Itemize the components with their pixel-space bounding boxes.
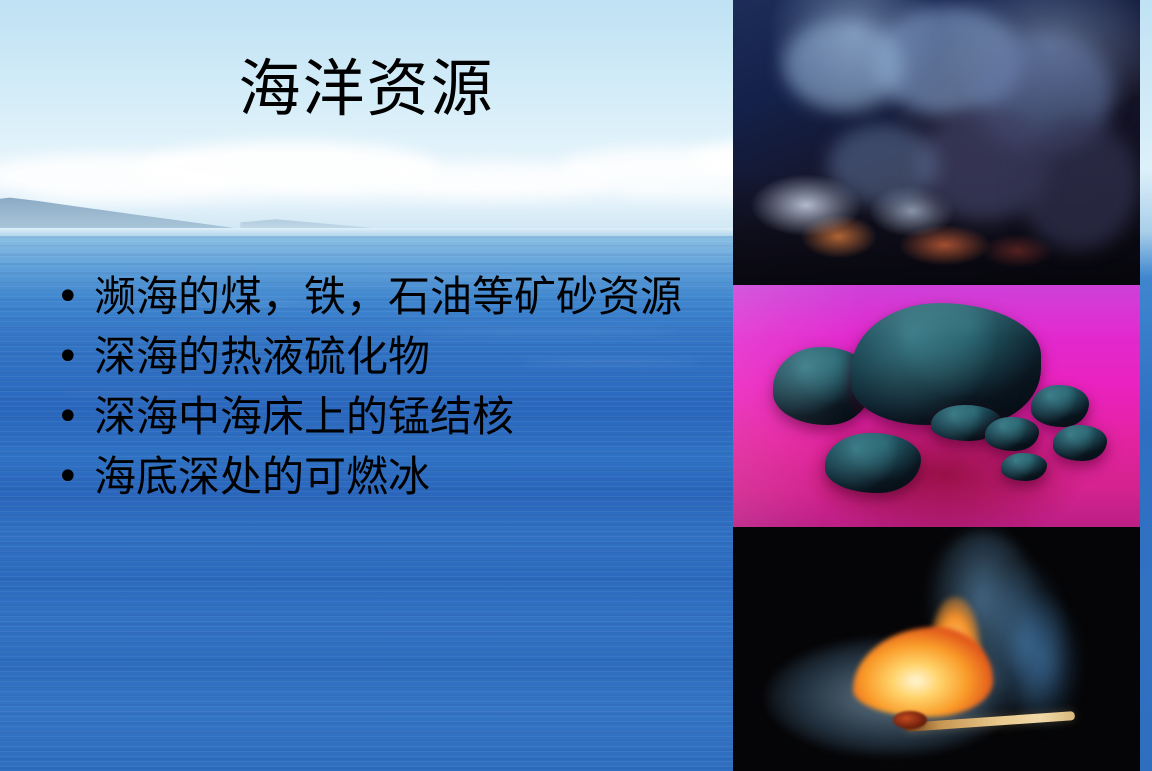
background-right-edge <box>1140 0 1152 771</box>
bullet-marker-icon: • <box>56 448 94 506</box>
smoke-plume <box>828 125 938 205</box>
bullet-text: 深海中海床上的锰结核 <box>94 388 706 446</box>
bullet-text: 濒海的煤，铁，石油等矿砂资源 <box>94 268 706 326</box>
slide: 海洋资源 • 濒海的煤，铁，石油等矿砂资源 • 深海的热液硫化物 • 深海中海床… <box>0 0 1152 771</box>
burning-match-photo <box>733 527 1140 771</box>
list-item: • 深海的热液硫化物 <box>56 328 706 386</box>
manganese-nodules-photo <box>733 285 1140 527</box>
smoke-plume <box>783 20 903 110</box>
nodule <box>985 417 1039 451</box>
bullet-list: • 濒海的煤，铁，石油等矿砂资源 • 深海的热液硫化物 • 深海中海床上的锰结核… <box>56 268 706 508</box>
match-head <box>893 711 927 729</box>
bullet-marker-icon: • <box>56 388 94 446</box>
hydrothermal-vent-photo <box>733 0 1140 285</box>
flame-scene <box>733 527 1140 771</box>
list-item: • 深海中海床上的锰结核 <box>56 388 706 446</box>
bullet-text: 海底深处的可燃冰 <box>94 448 706 506</box>
nodule <box>1031 385 1089 427</box>
smoke-plume <box>1018 120 1138 250</box>
nodule <box>1053 425 1107 461</box>
list-item: • 海底深处的可燃冰 <box>56 448 706 506</box>
nodule <box>825 433 921 493</box>
bullet-marker-icon: • <box>56 328 94 386</box>
list-item: • 濒海的煤，铁，石油等矿砂资源 <box>56 268 706 326</box>
cloud-shape <box>30 184 270 202</box>
nodule <box>1001 453 1047 481</box>
bullet-marker-icon: • <box>56 268 94 326</box>
photo-column <box>733 0 1140 771</box>
slide-title: 海洋资源 <box>0 56 733 121</box>
bullet-text: 深海的热液硫化物 <box>94 328 706 386</box>
cloud-shape <box>250 176 670 198</box>
